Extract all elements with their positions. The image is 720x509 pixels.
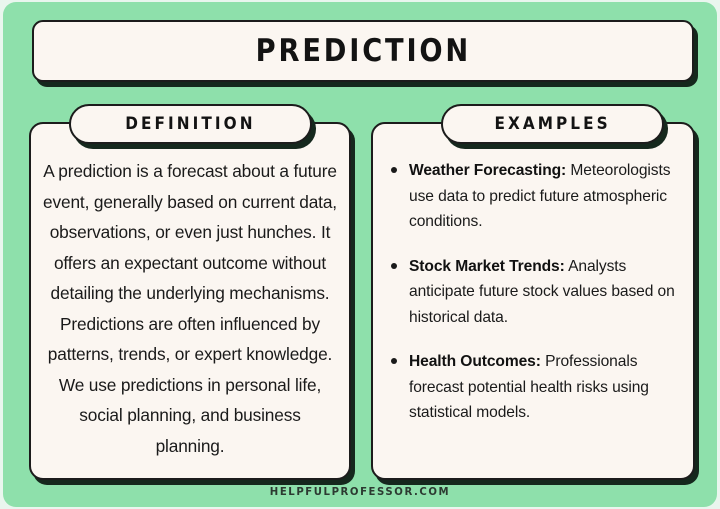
- green-background-frame: PREDICTION A prediction is a forecast ab…: [3, 2, 717, 507]
- example-term: Health Outcomes:: [409, 353, 541, 370]
- bullet-icon: [391, 358, 397, 364]
- example-term: Weather Forecasting:: [409, 162, 566, 179]
- list-item: Health Outcomes: Professionals forecast …: [387, 349, 683, 426]
- footer-watermark: HELPFULPROFESSOR.COM: [32, 485, 689, 498]
- infographic-root: PREDICTION A prediction is a forecast ab…: [0, 0, 720, 509]
- bullet-icon: [391, 167, 397, 173]
- examples-panel: Weather Forecasting: Meteorologists use …: [371, 122, 695, 480]
- list-item: Weather Forecasting: Meteorologists use …: [387, 158, 683, 235]
- list-item: Stock Market Trends: Analysts anticipate…: [387, 254, 683, 331]
- definition-body-text: A prediction is a forecast about a futur…: [43, 156, 337, 461]
- bullet-icon: [391, 263, 397, 269]
- definition-heading-pill: DEFINITION: [69, 104, 312, 144]
- page-title: PREDICTION: [255, 33, 470, 69]
- examples-heading-label: EXAMPLES: [494, 114, 610, 134]
- definition-panel: A prediction is a forecast about a futur…: [29, 122, 351, 480]
- title-card: PREDICTION: [32, 20, 694, 82]
- definition-heading-label: DEFINITION: [125, 114, 255, 134]
- examples-list: Weather Forecasting: Meteorologists use …: [387, 158, 683, 426]
- example-term: Stock Market Trends:: [409, 258, 565, 275]
- examples-heading-pill: EXAMPLES: [441, 104, 664, 144]
